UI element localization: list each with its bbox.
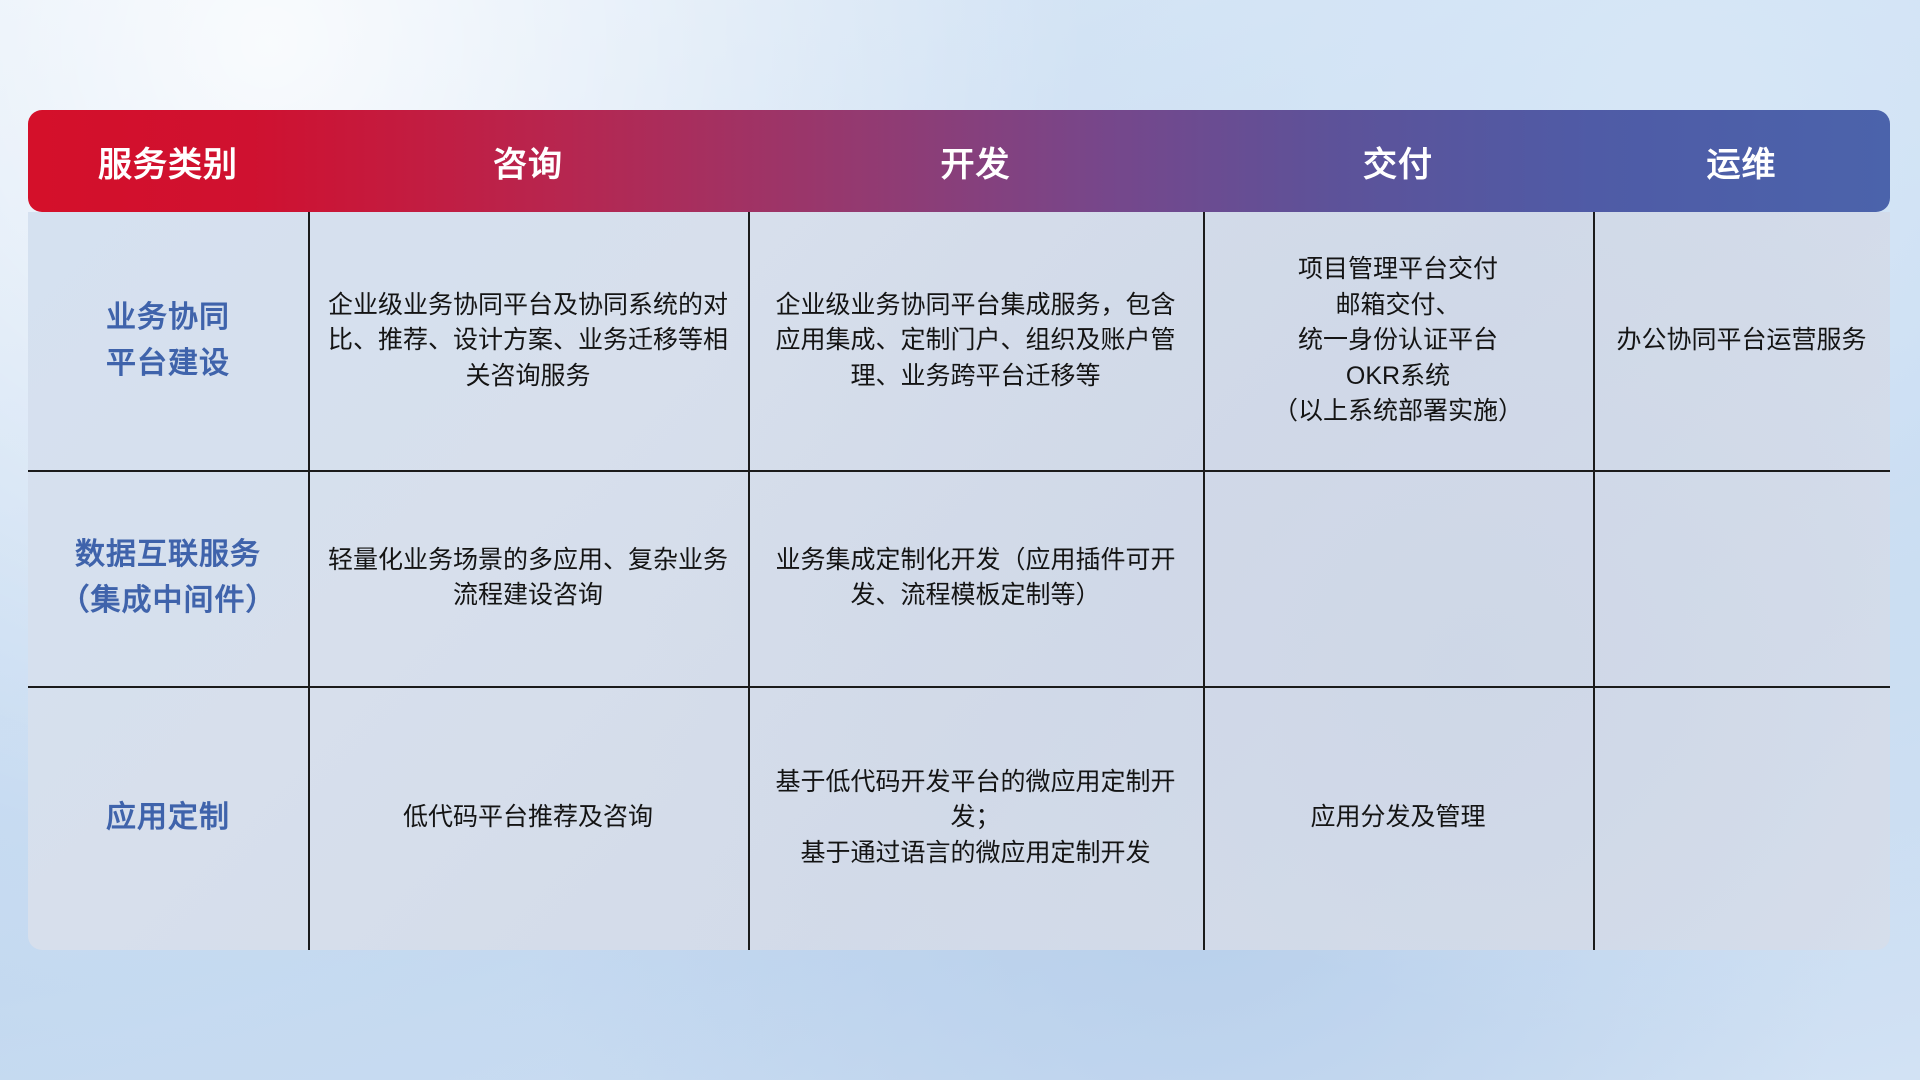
row-category-label: 数据互联服务（集成中间件） <box>28 470 308 686</box>
service-category-table: 服务类别 咨询 开发 交付 运维 业务协同平台建设 企业级业务协同平台及协同系统… <box>28 110 1890 950</box>
row-category-label: 业务协同平台建设 <box>28 212 308 470</box>
cell-consulting: 低代码平台推荐及咨询 <box>308 686 748 950</box>
cell-development: 企业级业务协同平台集成服务，包含应用集成、定制门户、组织及账户管理、业务跨平台迁… <box>748 212 1203 470</box>
cell-development: 基于低代码开发平台的微应用定制开发；基于通过语言的微应用定制开发 <box>748 686 1203 950</box>
cell-operations <box>1593 470 1890 686</box>
cell-delivery: 项目管理平台交付邮箱交付、统一身份认证平台OKR系统（以上系统部署实施） <box>1203 212 1593 470</box>
column-header-operations: 运维 <box>1593 137 1890 186</box>
table-header-row: 服务类别 咨询 开发 交付 运维 <box>28 110 1890 212</box>
cell-delivery <box>1203 470 1593 686</box>
cell-operations: 办公协同平台运营服务 <box>1593 212 1890 470</box>
table-row: 数据互联服务（集成中间件） 轻量化业务场景的多应用、复杂业务流程建设咨询 业务集… <box>28 470 1890 686</box>
column-header-delivery: 交付 <box>1203 137 1593 186</box>
table-row: 应用定制 低代码平台推荐及咨询 基于低代码开发平台的微应用定制开发；基于通过语言… <box>28 686 1890 950</box>
column-header-category: 服务类别 <box>28 137 308 186</box>
column-header-development: 开发 <box>748 137 1203 186</box>
cell-development: 业务集成定制化开发（应用插件可开发、流程模板定制等） <box>748 470 1203 686</box>
table-row: 业务协同平台建设 企业级业务协同平台及协同系统的对比、推荐、设计方案、业务迁移等… <box>28 212 1890 470</box>
table-body: 业务协同平台建设 企业级业务协同平台及协同系统的对比、推荐、设计方案、业务迁移等… <box>28 212 1890 950</box>
cell-consulting: 轻量化业务场景的多应用、复杂业务流程建设咨询 <box>308 470 748 686</box>
cell-consulting: 企业级业务协同平台及协同系统的对比、推荐、设计方案、业务迁移等相关咨询服务 <box>308 212 748 470</box>
column-header-consulting: 咨询 <box>308 137 748 186</box>
cell-delivery: 应用分发及管理 <box>1203 686 1593 950</box>
row-category-label: 应用定制 <box>28 686 308 950</box>
cell-operations <box>1593 686 1890 950</box>
